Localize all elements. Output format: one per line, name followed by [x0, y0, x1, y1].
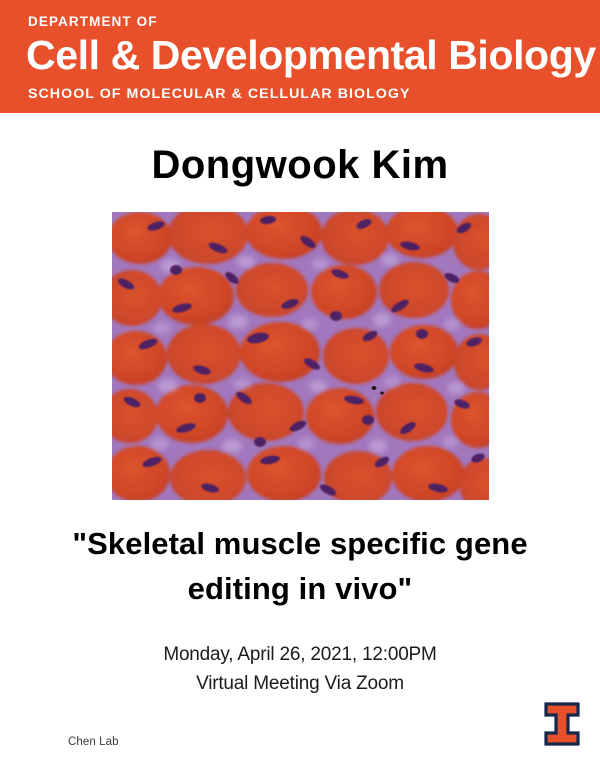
block-i-icon: [543, 702, 581, 746]
department-eyebrow-text: DEPARTMENT OF: [28, 14, 158, 30]
seminar-details: Monday, April 26, 2021, 12:00PM Virtual …: [0, 640, 600, 698]
talk-title: "Skeletal muscle specific gene editing i…: [30, 521, 570, 611]
muscle-micrograph-image: [112, 212, 489, 500]
illinois-block-i-logo: [543, 702, 581, 746]
lab-credit: Chen Lab: [68, 735, 119, 749]
speaker-name: Dongwook Kim: [0, 141, 600, 189]
department-name-title: Cell & Developmental Biology: [26, 31, 596, 79]
seminar-datetime: Monday, April 26, 2021, 12:00PM: [0, 640, 600, 669]
school-name-subtitle: SCHOOL OF MOLECULAR & CELLULAR BIOLOGY: [28, 86, 411, 103]
seminar-location: Virtual Meeting Via Zoom: [0, 669, 600, 698]
micrograph-illustration: [112, 212, 489, 500]
department-header-banner: DEPARTMENT OF Cell & Developmental Biolo…: [0, 0, 600, 113]
